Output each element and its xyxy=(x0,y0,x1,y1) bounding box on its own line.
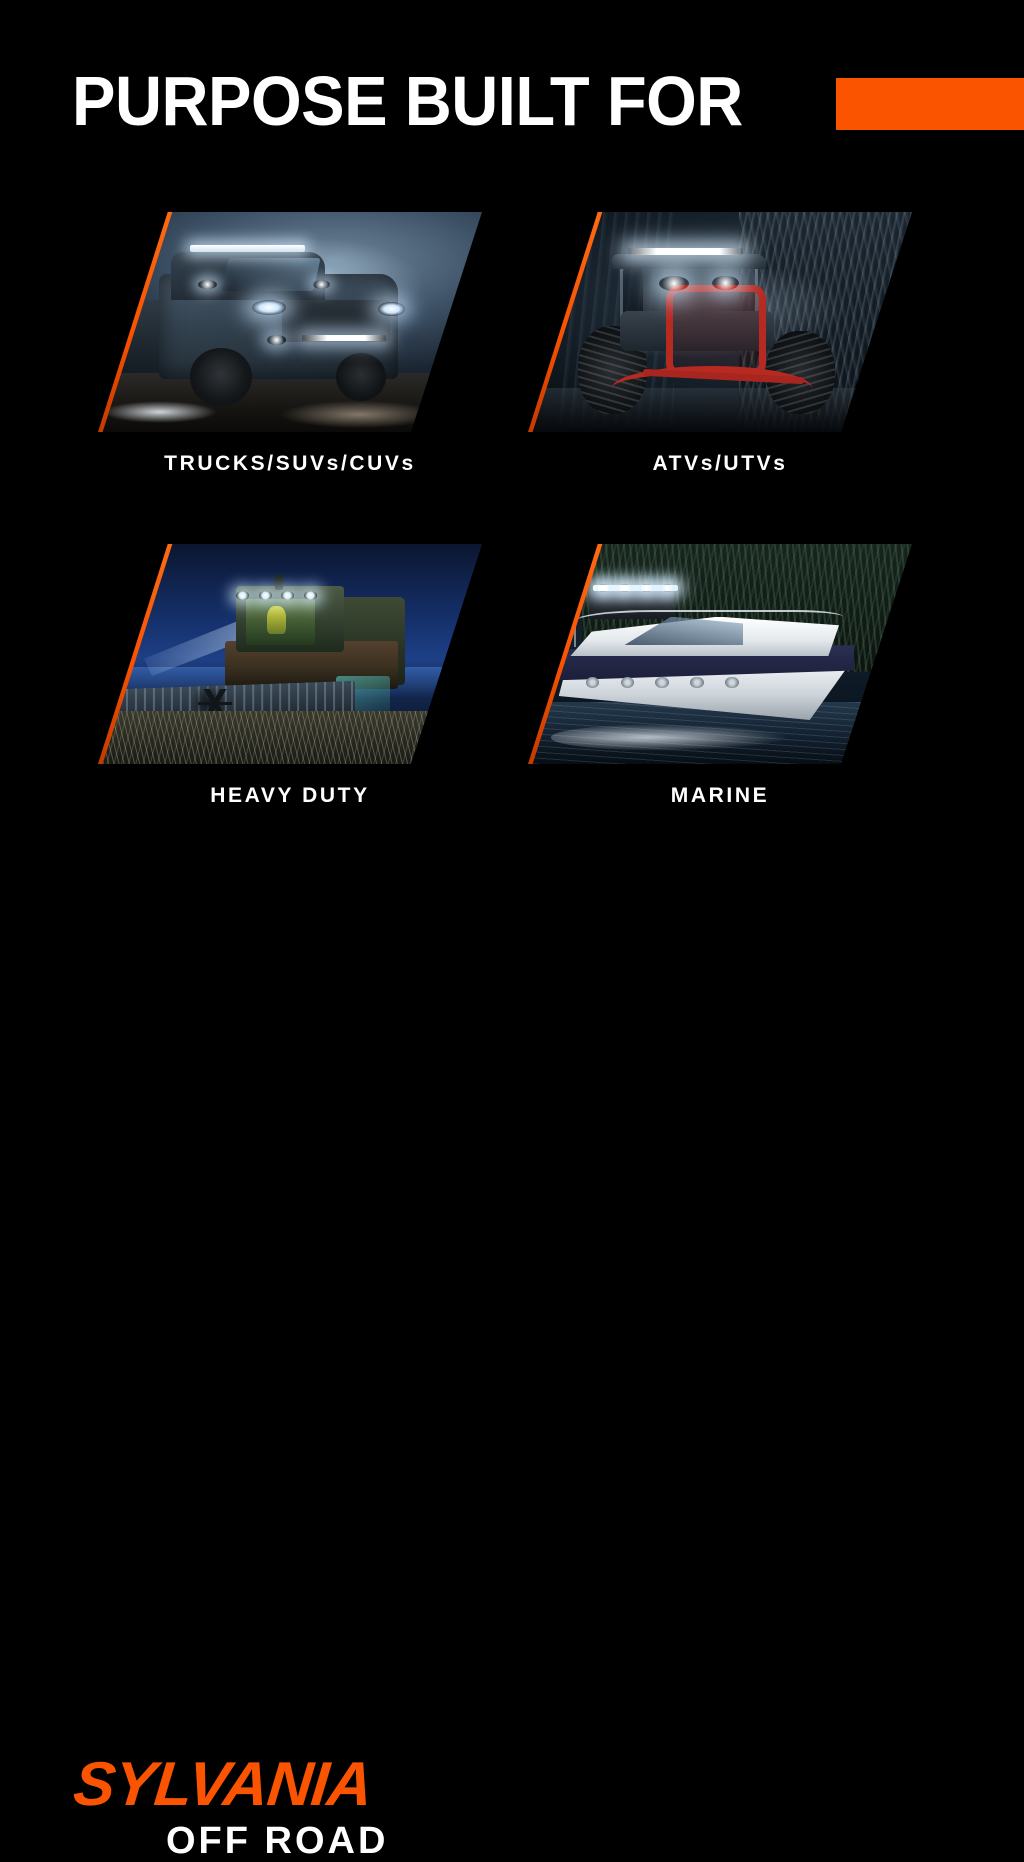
work-light-icon xyxy=(281,591,294,600)
marine-light-icon xyxy=(598,584,609,593)
brand-sublogo-off-road: OFF ROAD xyxy=(166,1822,388,1860)
page-title: PURPOSE BUILT FOR xyxy=(72,66,743,136)
marine-scene xyxy=(528,544,912,764)
category-label-marine: MARINE xyxy=(528,784,912,808)
category-label-atvs: ATVs/UTVs xyxy=(528,452,912,476)
exhaust-stack xyxy=(275,575,283,590)
operator-figure xyxy=(267,606,286,635)
porthole xyxy=(725,677,739,689)
category-card-marine[interactable]: MARINE xyxy=(528,532,998,862)
porthole xyxy=(621,677,635,689)
marine-light-icon xyxy=(619,584,630,593)
work-light-icon xyxy=(304,591,317,600)
marine-photo xyxy=(528,544,912,764)
bow-wake xyxy=(551,724,789,750)
atv-roof xyxy=(612,254,766,269)
marine-light-icon xyxy=(662,584,673,593)
brand-logo-sylvania: SYLVANIA xyxy=(71,1754,375,1816)
atv-photo xyxy=(528,212,912,432)
truck-scene xyxy=(98,212,482,432)
category-card-trucks[interactable]: TRUCKS/SUVs/CUVs xyxy=(98,200,568,530)
porthole xyxy=(655,677,669,689)
headlight-right-icon xyxy=(712,276,739,290)
category-image-atvs xyxy=(528,212,912,432)
porthole-row xyxy=(586,676,740,689)
porthole xyxy=(586,677,600,689)
atv-front-bumper xyxy=(666,285,766,377)
boat-bow-rail xyxy=(574,610,843,647)
crop-field xyxy=(98,711,482,764)
footer-branding: SYLVANIA OFF ROAD xyxy=(0,870,1024,1024)
roof-light-bar-icon xyxy=(190,245,305,252)
bumper-light-bar-icon xyxy=(302,335,386,341)
truck-windshield xyxy=(221,258,320,291)
porthole xyxy=(690,677,704,689)
atv-scene xyxy=(528,212,912,432)
category-image-marine xyxy=(528,544,912,764)
rock-bed xyxy=(282,401,436,427)
roof-light-bar-icon xyxy=(628,248,743,255)
marine-light-row xyxy=(593,584,677,593)
category-image-heavy-duty xyxy=(98,544,482,764)
work-light-row xyxy=(236,591,317,600)
heavy-duty-photo xyxy=(98,544,482,764)
truck-rear-wheel xyxy=(336,353,386,401)
work-light-icon xyxy=(236,591,249,600)
marine-light-icon xyxy=(641,584,652,593)
category-card-heavy-duty[interactable]: HEAVY DUTY xyxy=(98,532,568,862)
category-label-heavy-duty: HEAVY DUTY xyxy=(98,784,482,808)
truck-front-wheel xyxy=(190,348,251,405)
heavy-duty-scene xyxy=(98,544,482,764)
header-accent-block xyxy=(836,78,1024,130)
category-card-atvs[interactable]: ATVs/UTVs xyxy=(528,200,998,530)
work-light-icon xyxy=(259,591,272,600)
category-grid: TRUCKS/SUVs/CUVs xyxy=(0,200,1024,850)
category-image-trucks xyxy=(98,212,482,432)
header: PURPOSE BUILT FOR xyxy=(0,0,1024,170)
truck-photo xyxy=(98,212,482,432)
poster-canvas: PURPOSE BUILT FOR xyxy=(0,0,1024,1024)
category-label-trucks: TRUCKS/SUVs/CUVs xyxy=(98,452,482,476)
